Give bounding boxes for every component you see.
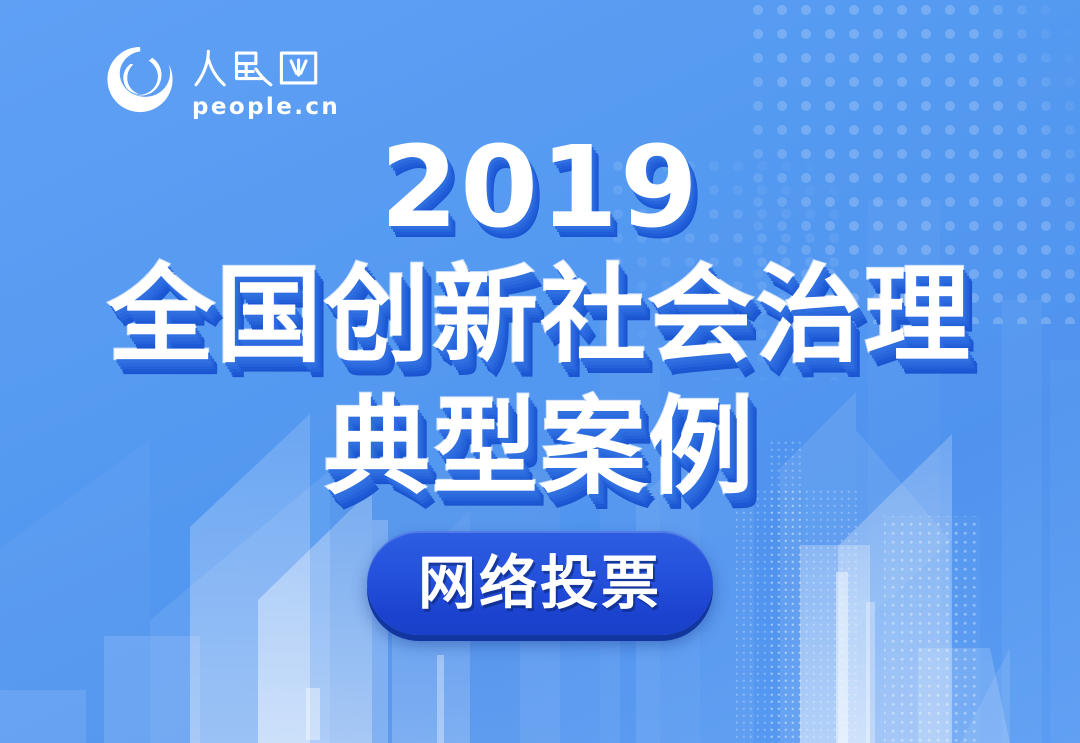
brand-logo[interactable]: people.cn (103, 44, 340, 119)
online-vote-button[interactable]: 网络投票 (367, 531, 713, 635)
brand-name-cn-icon (189, 46, 321, 90)
poster-canvas: people.cn 2019 全国创新社会治理 典型案例 网络投票 (0, 0, 1080, 743)
headline-year: 2019 (0, 132, 1080, 244)
cta-container: 网络投票 (0, 531, 1080, 635)
brand-wordmark: people.cn (189, 44, 340, 119)
online-vote-button-label: 网络投票 (418, 554, 662, 612)
people-cn-globe-icon (103, 44, 177, 118)
headline-line-1: 全国创新社会治理 (0, 262, 1080, 370)
brand-name-en: people.cn (192, 96, 340, 119)
headline-line-2: 典型案例 (0, 394, 1080, 502)
headline-block: 2019 全国创新社会治理 典型案例 (0, 132, 1080, 502)
